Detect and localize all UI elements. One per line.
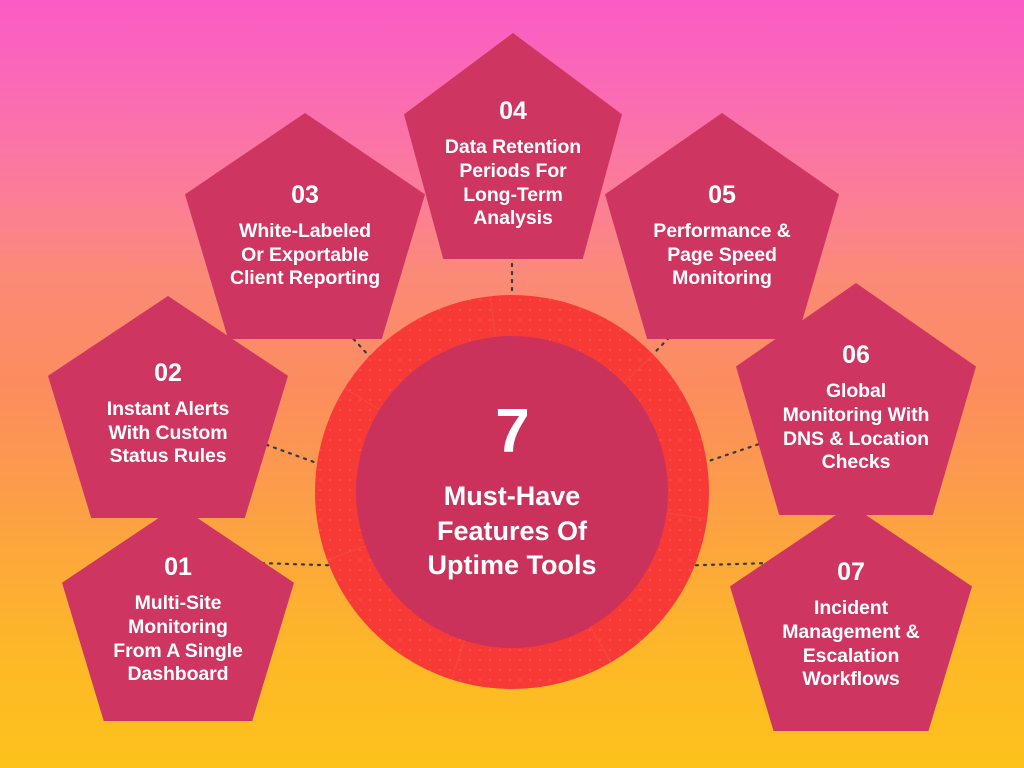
- pentagon-content: 03 White-Labeled Or Exportable Client Re…: [185, 161, 425, 291]
- pentagon-number: 02: [154, 361, 182, 386]
- infographic-canvas: 01 Multi-Site Monitoring From A Single D…: [0, 0, 1024, 768]
- pentagon-number: 05: [708, 183, 736, 208]
- pentagon-label: Performance & Page Speed Monitoring: [653, 220, 790, 291]
- pentagon-content: 06 Global Monitoring With DNS & Location…: [736, 323, 976, 475]
- pentagon-item-06[interactable]: 06 Global Monitoring With DNS & Location…: [736, 283, 976, 515]
- pentagon-item-03[interactable]: 03 White-Labeled Or Exportable Client Re…: [185, 113, 425, 339]
- pentagon-number: 01: [164, 555, 192, 580]
- pentagon-content: 07 Incident Management & Escalation Work…: [730, 544, 972, 692]
- pentagon-label: Global Monitoring With DNS & Location Ch…: [783, 380, 930, 475]
- pentagon-label: White-Labeled Or Exportable Client Repor…: [230, 220, 380, 291]
- pentagon-number: 06: [842, 343, 870, 368]
- pentagon-label: Data Retention Periods For Long-Term Ana…: [445, 136, 581, 231]
- center-number: 7: [495, 401, 528, 463]
- pentagon-content: 02 Instant Alerts With Custom Status Rul…: [48, 345, 288, 469]
- center-core: 7 Must-Have Features Of Uptime Tools: [356, 336, 668, 648]
- pentagon-label: Instant Alerts With Custom Status Rules: [107, 398, 229, 469]
- center-title: Must-Have Features Of Uptime Tools: [427, 479, 596, 583]
- pentagon-label: Multi-Site Monitoring From A Single Dash…: [113, 592, 242, 687]
- pentagon-content: 01 Multi-Site Monitoring From A Single D…: [62, 539, 294, 687]
- pentagon-label: Incident Management & Escalation Workflo…: [782, 597, 920, 692]
- pentagon-content: 04 Data Retention Periods For Long-Term …: [404, 61, 622, 231]
- pentagon-number: 07: [837, 560, 865, 585]
- pentagon-content: 05 Performance & Page Speed Monitoring: [605, 161, 839, 291]
- center-donut[interactable]: 7 Must-Have Features Of Uptime Tools: [315, 295, 709, 689]
- pentagon-item-07[interactable]: 07 Incident Management & Escalation Work…: [730, 505, 972, 731]
- pentagon-number: 03: [291, 183, 319, 208]
- pentagon-number: 04: [499, 99, 527, 124]
- pentagon-item-04[interactable]: 04 Data Retention Periods For Long-Term …: [404, 33, 622, 259]
- pentagon-item-01[interactable]: 01 Multi-Site Monitoring From A Single D…: [62, 505, 294, 721]
